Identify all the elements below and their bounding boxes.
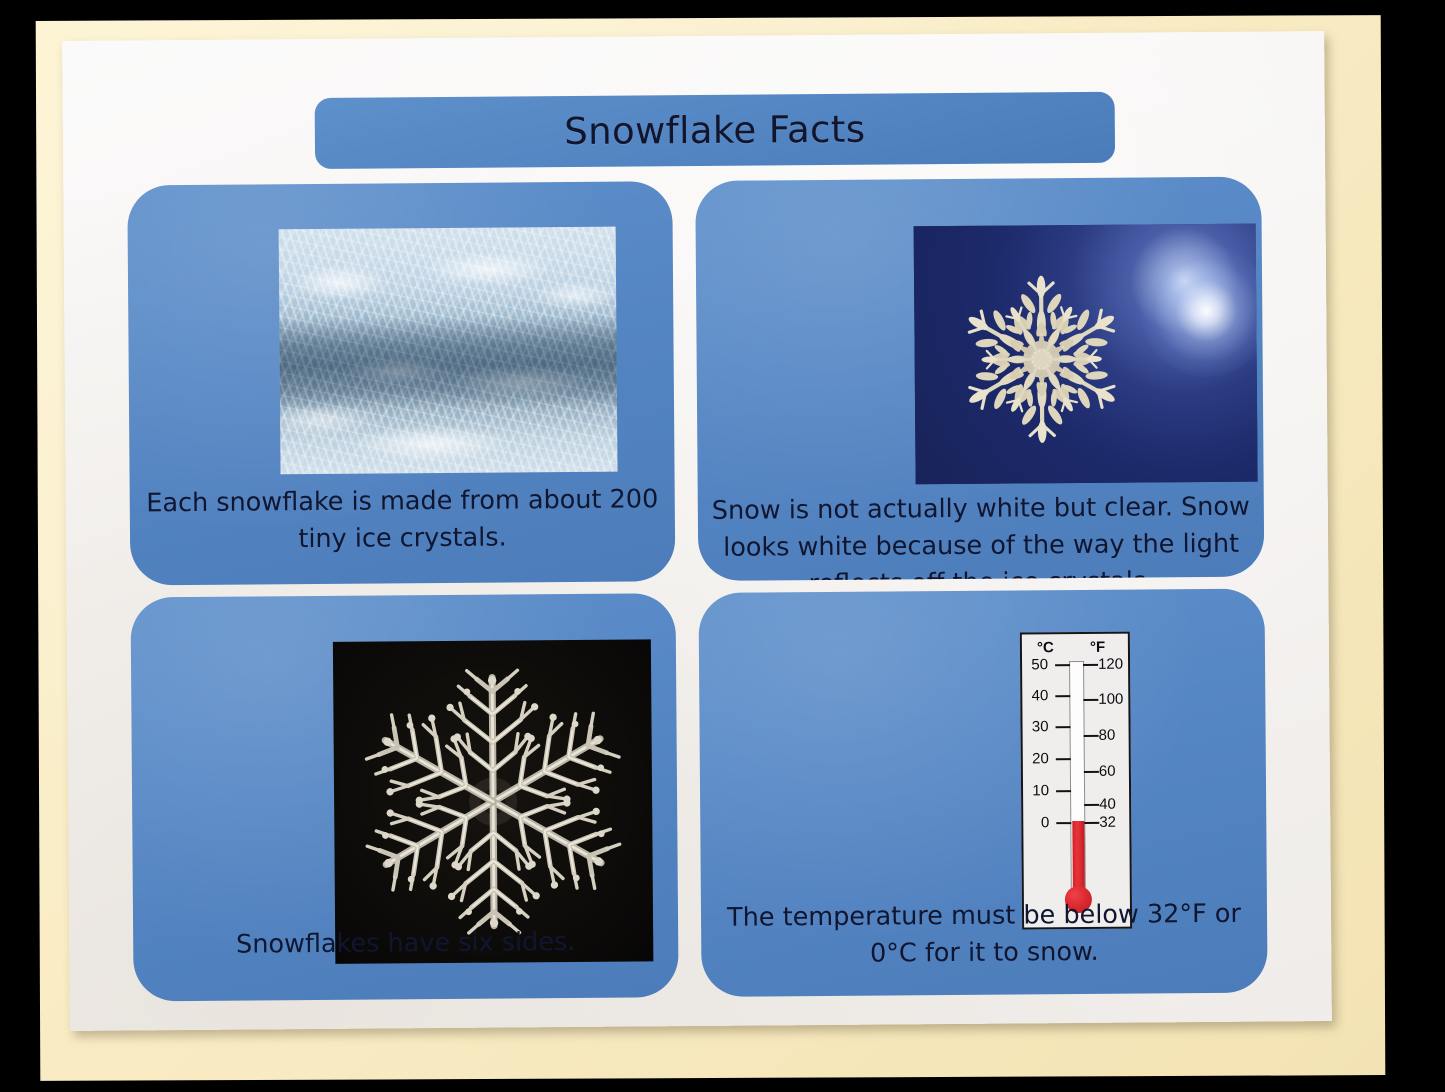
- fact-panel-bottom-left: Snowflakes have six sides.: [131, 593, 679, 1001]
- celsius-tick-10: [1056, 790, 1071, 792]
- snowflake-crystal-small: [948, 266, 1135, 453]
- fahrenheit-tick-60: [1084, 771, 1099, 773]
- poster-board: Snowflake Facts Each snowflake is made f…: [62, 31, 1332, 1031]
- celsius-label-50: 50: [1014, 657, 1048, 672]
- celsius-tick-0: [1056, 822, 1071, 824]
- framed-poster-photograph: Snowflake Facts Each snowflake is made f…: [0, 0, 1445, 1092]
- caption-top-right: Snow is not actually white but clear. Sn…: [698, 489, 1265, 581]
- celsius-unit-label: °C: [1037, 639, 1054, 656]
- celsius-label-40: 40: [1014, 688, 1048, 703]
- fahrenheit-label-60: 60: [1099, 764, 1135, 779]
- snowflake-night-sky-photo: [914, 224, 1258, 485]
- fahrenheit-label-100: 100: [1098, 692, 1134, 707]
- fahrenheit-tick-40: [1084, 804, 1099, 806]
- fahrenheit-label-32: 32: [1099, 815, 1135, 830]
- celsius-label-30: 30: [1014, 719, 1048, 734]
- caption-top-left: Each snowflake is made from about 200 ti…: [130, 481, 676, 560]
- celsius-label-10: 10: [1015, 783, 1049, 798]
- page-title: Snowflake Facts: [564, 108, 865, 153]
- snowflake-black-background-photo: [333, 639, 654, 963]
- title-banner: Snowflake Facts: [315, 92, 1116, 169]
- fact-panel-bottom-right: °C °F 50 40 30 20 10 0 12: [698, 589, 1267, 997]
- celsius-tick-40: [1055, 695, 1070, 697]
- fahrenheit-tick-100: [1083, 699, 1098, 701]
- fact-panel-top-left: Each snowflake is made from about 200 ti…: [127, 181, 675, 585]
- caption-bottom-right: The temperature must be below 32°F or 0°…: [701, 896, 1268, 975]
- fahrenheit-label-40: 40: [1099, 797, 1135, 812]
- celsius-label-20: 20: [1015, 751, 1049, 766]
- frost-dark-band: [279, 227, 618, 475]
- caption-bottom-left: Snowflakes have six sides.: [133, 923, 678, 964]
- snowflake-crystal-large: [351, 660, 635, 944]
- celsius-tick-30: [1056, 726, 1071, 728]
- fahrenheit-tick-80: [1084, 735, 1099, 737]
- celsius-label-0: 0: [1015, 815, 1049, 830]
- fact-panel-top-right: Snow is not actually white but clear. Sn…: [695, 177, 1264, 581]
- fahrenheit-tick-32: [1084, 822, 1099, 824]
- fahrenheit-label-120: 120: [1098, 657, 1134, 672]
- fahrenheit-tick-120: [1083, 664, 1098, 666]
- celsius-tick-20: [1056, 758, 1071, 760]
- fahrenheit-unit-label: °F: [1090, 639, 1105, 656]
- frost-crystals-photo: [279, 227, 618, 475]
- fahrenheit-label-80: 80: [1099, 728, 1135, 743]
- moon-glow: [1139, 244, 1257, 377]
- thermometer-diagram: °C °F 50 40 30 20 10 0 12: [1020, 632, 1132, 930]
- celsius-tick-50: [1055, 664, 1070, 666]
